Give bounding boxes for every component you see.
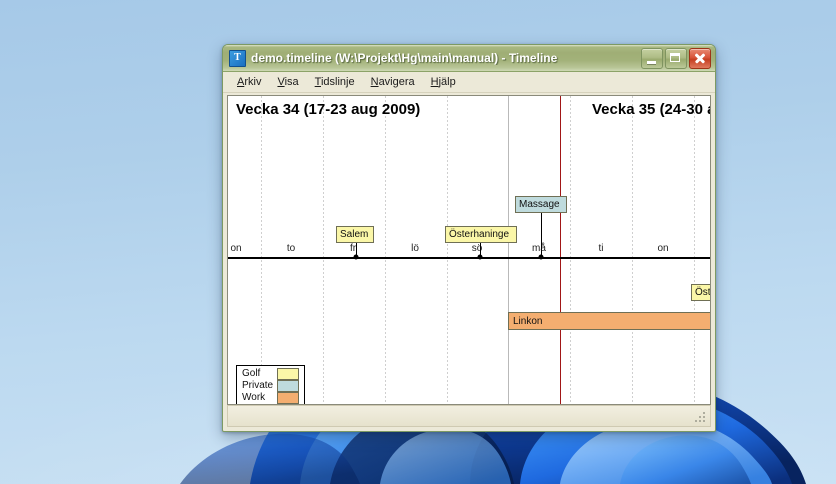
menu-rest-tidslinje: idslinje [321,76,355,88]
event-anchor-dot [354,255,359,260]
timeline-app-icon: T [229,50,246,67]
menu-item-navigera[interactable]: Navigera [363,74,423,90]
legend-swatch [275,392,301,404]
grid-line-major [508,96,509,404]
day-tick-label: on [657,243,668,254]
event-bar[interactable]: Linkon [508,312,711,330]
legend-label: Work [240,392,275,404]
day-tick-label: ti [599,243,604,254]
grid-line-minor [261,96,262,404]
event-anchor-dot [539,255,544,260]
menu-rest-visa: isa [285,76,299,88]
day-tick-label: to [287,243,295,254]
menu-item-visa[interactable]: Visa [269,74,306,90]
resize-grip-icon[interactable] [694,411,707,424]
window-title-bar[interactable]: T demo.timeline (W:\Projekt\Hg\main\manu… [223,45,715,72]
menu-rest-navigera: avigera [379,76,415,88]
timeline-canvas[interactable]: Vecka 34 (17-23 aug 2009)Vecka 35 (24-30… [228,96,710,404]
legend-row: Golf [240,368,301,380]
legend-row: Private [240,380,301,392]
maximize-button[interactable] [665,48,687,69]
event-stem [541,212,542,257]
legend-label: Private [240,380,275,392]
event-anchor-dot [478,255,483,260]
legend-color-swatch [277,392,299,404]
day-tick-label: on [230,243,241,254]
now-marker-line [560,96,561,404]
timeline-application-window[interactable]: T demo.timeline (W:\Projekt\Hg\main\manu… [222,44,716,432]
menu-accel-visa: V [277,76,284,88]
week-label: Vecka 34 (17-23 aug 2009) [236,101,420,118]
grid-line-minor [385,96,386,404]
legend-color-swatch [277,368,299,380]
event-box[interactable]: Österhaninge [445,226,517,243]
legend-swatch [275,368,301,380]
grid-line-minor [694,96,695,404]
menu-rest-hjalp: jälp [439,76,456,88]
close-button[interactable] [689,48,711,69]
status-bar [227,405,711,427]
timeline-canvas-frame[interactable]: Vecka 34 (17-23 aug 2009)Vecka 35 (24-30… [227,95,711,405]
legend-swatch [275,380,301,392]
menu-item-tidslinje[interactable]: Tidslinje [307,74,363,90]
window-title-text: demo.timeline (W:\Projekt\Hg\main\manual… [251,51,641,65]
timeline-axis [228,257,710,259]
window-control-buttons [641,48,711,69]
grid-line-minor [632,96,633,404]
grid-line-minor [570,96,571,404]
menu-accel-navigera: N [371,76,379,88]
legend-row: Work [240,392,301,404]
menu-rest-arkiv: rkiv [244,76,261,88]
menu-bar: Arkiv Visa Tidslinje Navigera Hjälp [223,72,715,93]
day-tick-label: lö [411,243,419,254]
legend-color-swatch [277,380,299,392]
legend-label: Golf [240,368,275,380]
event-box[interactable]: Salem [336,226,374,243]
day-tick-label: må [532,243,546,254]
menu-accel-hjalp: H [431,76,439,88]
grid-line-minor [323,96,324,404]
menu-item-hjalp[interactable]: Hjälp [423,74,464,90]
week-label: Vecka 35 (24-30 aug 2009) [592,101,711,118]
legend-box[interactable]: GolfPrivateWork [236,365,305,405]
grid-line-minor [447,96,448,404]
event-box[interactable]: Massage [515,196,567,213]
event-box[interactable]: Österåker [691,284,711,301]
menu-item-arkiv[interactable]: Arkiv [229,74,269,90]
minimize-button[interactable] [641,48,663,69]
